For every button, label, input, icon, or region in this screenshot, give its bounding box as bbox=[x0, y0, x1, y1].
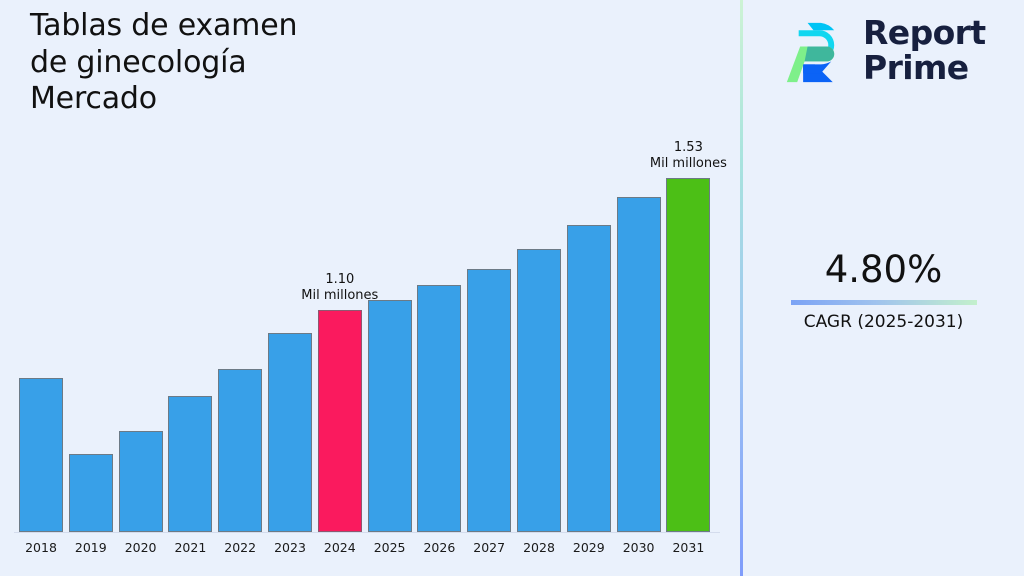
chart-panel: Tablas de examen de ginecología Mercado … bbox=[0, 0, 740, 576]
x-axis-label-2030: 2030 bbox=[617, 540, 661, 555]
bar-2024[interactable]: 1.10 Mil millones bbox=[318, 310, 362, 532]
x-axis-label-2031: 2031 bbox=[666, 540, 710, 555]
bar-2018[interactable] bbox=[19, 378, 63, 532]
bar-rect-2031[interactable] bbox=[666, 178, 710, 532]
x-axis-label-2022: 2022 bbox=[218, 540, 262, 555]
bar-rect-2020[interactable] bbox=[119, 431, 163, 532]
cagr-caption: CAGR (2025-2031) bbox=[743, 312, 1024, 332]
bar-2031[interactable]: 1.53 Mil millones bbox=[666, 178, 710, 532]
x-axis-label-2025: 2025 bbox=[368, 540, 412, 555]
bar-2030[interactable] bbox=[617, 197, 661, 532]
report-prime-logo-icon bbox=[775, 14, 849, 88]
bar-rect-2018[interactable] bbox=[19, 378, 63, 532]
x-axis-label-2018: 2018 bbox=[19, 540, 63, 555]
bar-rect-2022[interactable] bbox=[218, 369, 262, 532]
brand-name: Report Prime bbox=[863, 16, 986, 86]
cagr-block: 4.80% CAGR (2025-2031) bbox=[743, 250, 1024, 332]
bar-rect-2024[interactable] bbox=[318, 310, 362, 532]
bar-rect-2025[interactable] bbox=[368, 300, 412, 532]
x-axis-label-2024: 2024 bbox=[318, 540, 362, 555]
bar-rect-2030[interactable] bbox=[617, 197, 661, 532]
x-axis-label-2021: 2021 bbox=[168, 540, 212, 555]
bar-2026[interactable] bbox=[417, 285, 461, 532]
brand-logo: Report Prime bbox=[775, 14, 986, 88]
x-axis-label-2026: 2026 bbox=[417, 540, 461, 555]
bar-rect-2029[interactable] bbox=[567, 225, 611, 532]
bar-rect-2026[interactable] bbox=[417, 285, 461, 532]
bar-2029[interactable] bbox=[567, 225, 611, 532]
summary-panel: Report Prime 4.80% CAGR (2025-2031) bbox=[743, 0, 1024, 576]
chart-page: Tablas de examen de ginecología Mercado … bbox=[0, 0, 1024, 576]
bar-2027[interactable] bbox=[467, 269, 511, 532]
x-axis-label-2027: 2027 bbox=[467, 540, 511, 555]
x-axis-label-2028: 2028 bbox=[517, 540, 561, 555]
bar-2025[interactable] bbox=[368, 300, 412, 532]
bar-2019[interactable] bbox=[69, 454, 113, 532]
bar-chart-plot-area: 1.10 Mil millones1.53 Mil millones 20182… bbox=[0, 0, 740, 576]
cagr-divider-rule bbox=[791, 300, 977, 305]
bar-2023[interactable] bbox=[268, 333, 312, 532]
bar-2021[interactable] bbox=[168, 396, 212, 532]
x-axis-label-2019: 2019 bbox=[69, 540, 113, 555]
bar-rect-2019[interactable] bbox=[69, 454, 113, 532]
bar-rect-2028[interactable] bbox=[517, 249, 561, 532]
cagr-value: 4.80% bbox=[743, 250, 1024, 291]
bar-2028[interactable] bbox=[517, 249, 561, 532]
bar-2022[interactable] bbox=[218, 369, 262, 532]
bar-rect-2023[interactable] bbox=[268, 333, 312, 532]
bar-rect-2021[interactable] bbox=[168, 396, 212, 532]
x-axis-label-2029: 2029 bbox=[567, 540, 611, 555]
bar-2020[interactable] bbox=[119, 431, 163, 532]
x-axis-line bbox=[14, 532, 720, 533]
x-axis-label-2023: 2023 bbox=[268, 540, 312, 555]
x-axis-label-2020: 2020 bbox=[119, 540, 163, 555]
bar-rect-2027[interactable] bbox=[467, 269, 511, 532]
